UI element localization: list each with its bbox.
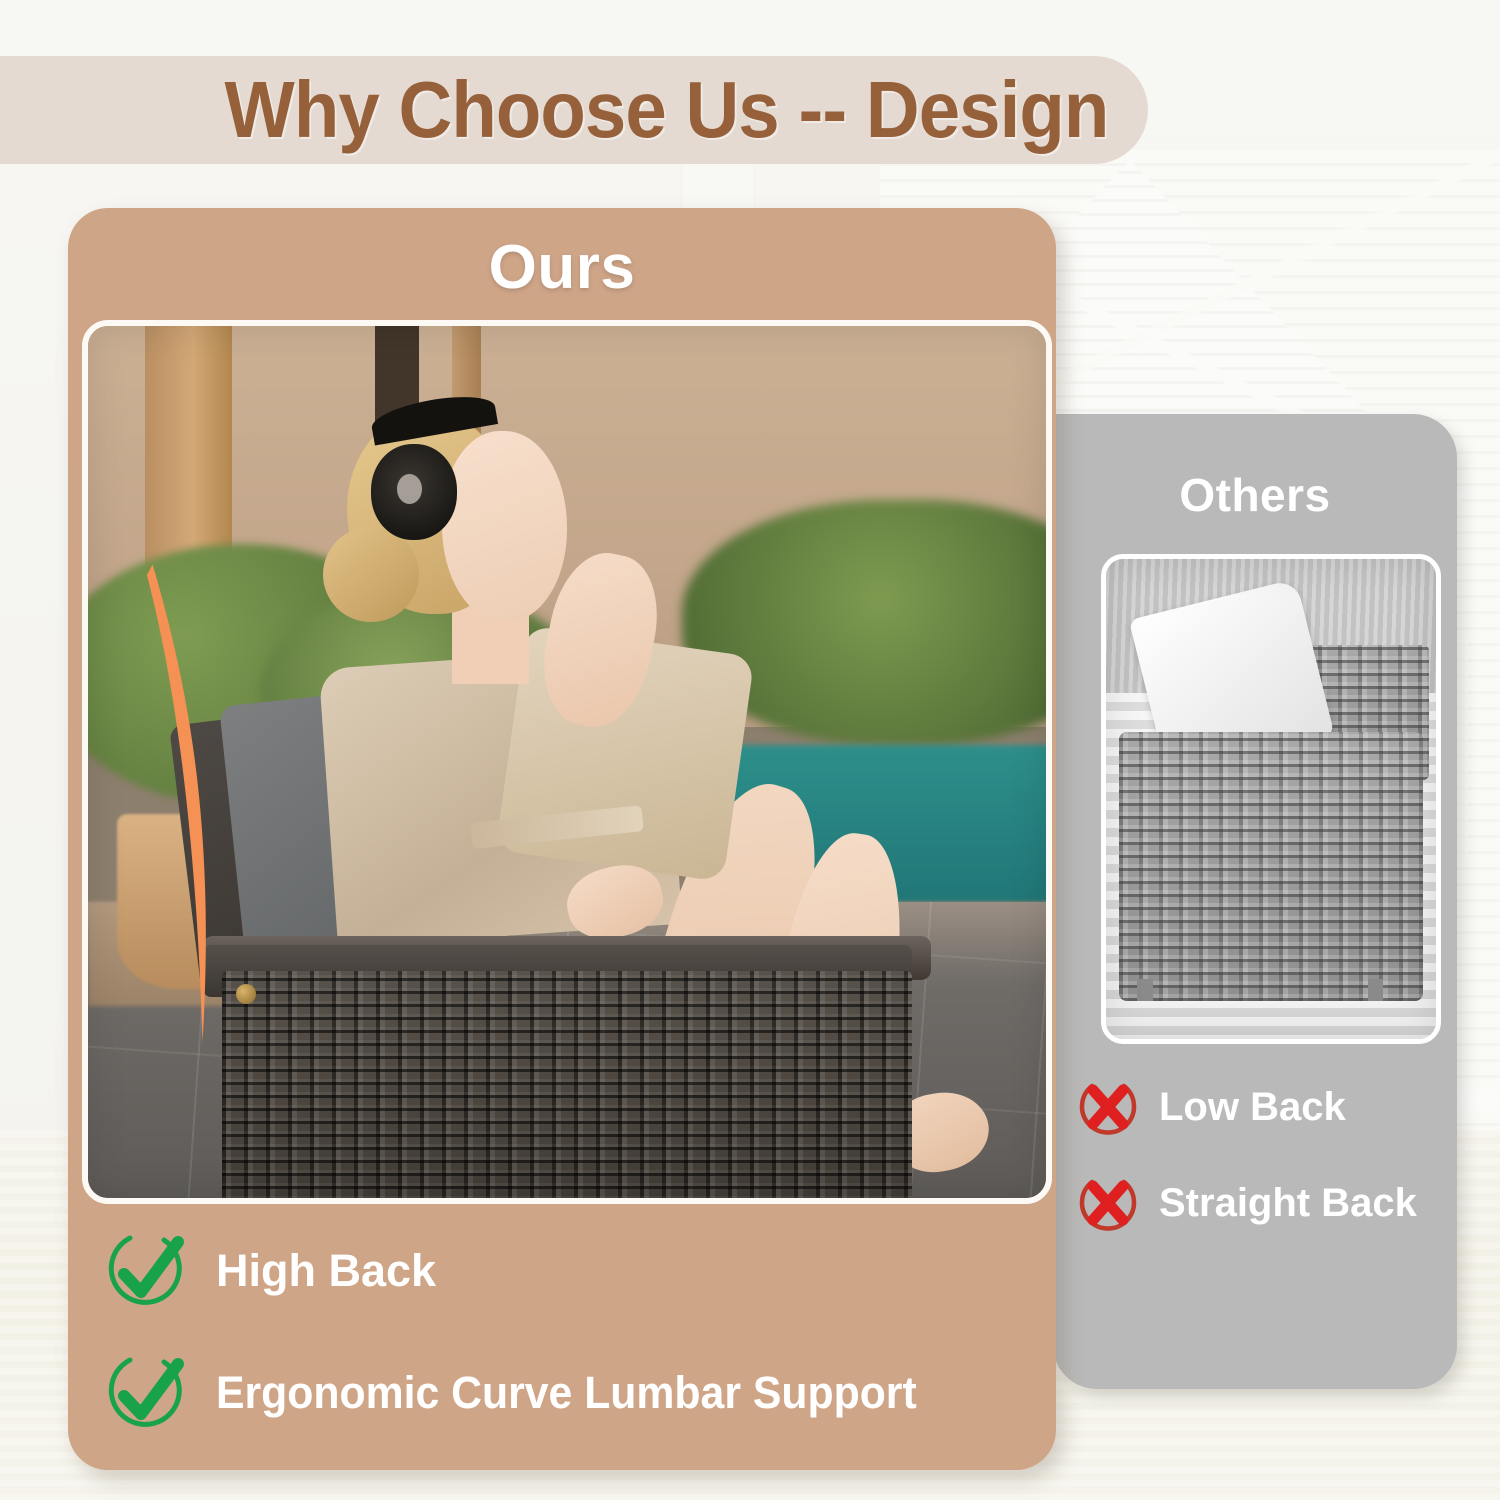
list-item-label: Low Back [1159, 1085, 1346, 1130]
wicker-chair-body [222, 971, 912, 1204]
x-circle-icon [1075, 1074, 1141, 1140]
list-item-label: Straight Back [1159, 1181, 1417, 1226]
model-hair-bun [323, 527, 419, 623]
check-circle-icon [104, 1228, 190, 1314]
ours-title: Ours [68, 232, 1056, 303]
list-item-label: Ergonomic Curve Lumbar Support [216, 1367, 917, 1419]
others-panel: Others Lo [1053, 414, 1457, 1389]
list-item-label: High Back [216, 1245, 436, 1297]
others-product-photo [1101, 554, 1441, 1044]
list-item: Straight Back [1075, 1170, 1465, 1236]
title-banner: Why Choose Us -- Design [0, 56, 1148, 164]
page-title: Why Choose Us -- Design [224, 70, 1108, 150]
check-circle-icon [104, 1350, 190, 1436]
others-drawback-list: Low Back Straight Back [1075, 1074, 1465, 1266]
list-item: Low Back [1075, 1074, 1465, 1140]
ours-panel: Ours [68, 208, 1056, 1470]
list-item: High Back [104, 1228, 1044, 1314]
lumbar-curve-highlight [145, 561, 250, 1049]
ours-feature-list: High Back Ergonomic Curve Lumbar Support [104, 1228, 1044, 1472]
infographic-stage: Others Lo [0, 0, 1500, 1500]
model-face [442, 431, 567, 623]
x-circle-icon [1075, 1170, 1141, 1236]
list-item: Ergonomic Curve Lumbar Support [104, 1350, 1044, 1436]
others-wicker-sofa [1119, 732, 1423, 1001]
others-title: Others [1053, 468, 1457, 522]
ours-product-photo [82, 320, 1052, 1204]
